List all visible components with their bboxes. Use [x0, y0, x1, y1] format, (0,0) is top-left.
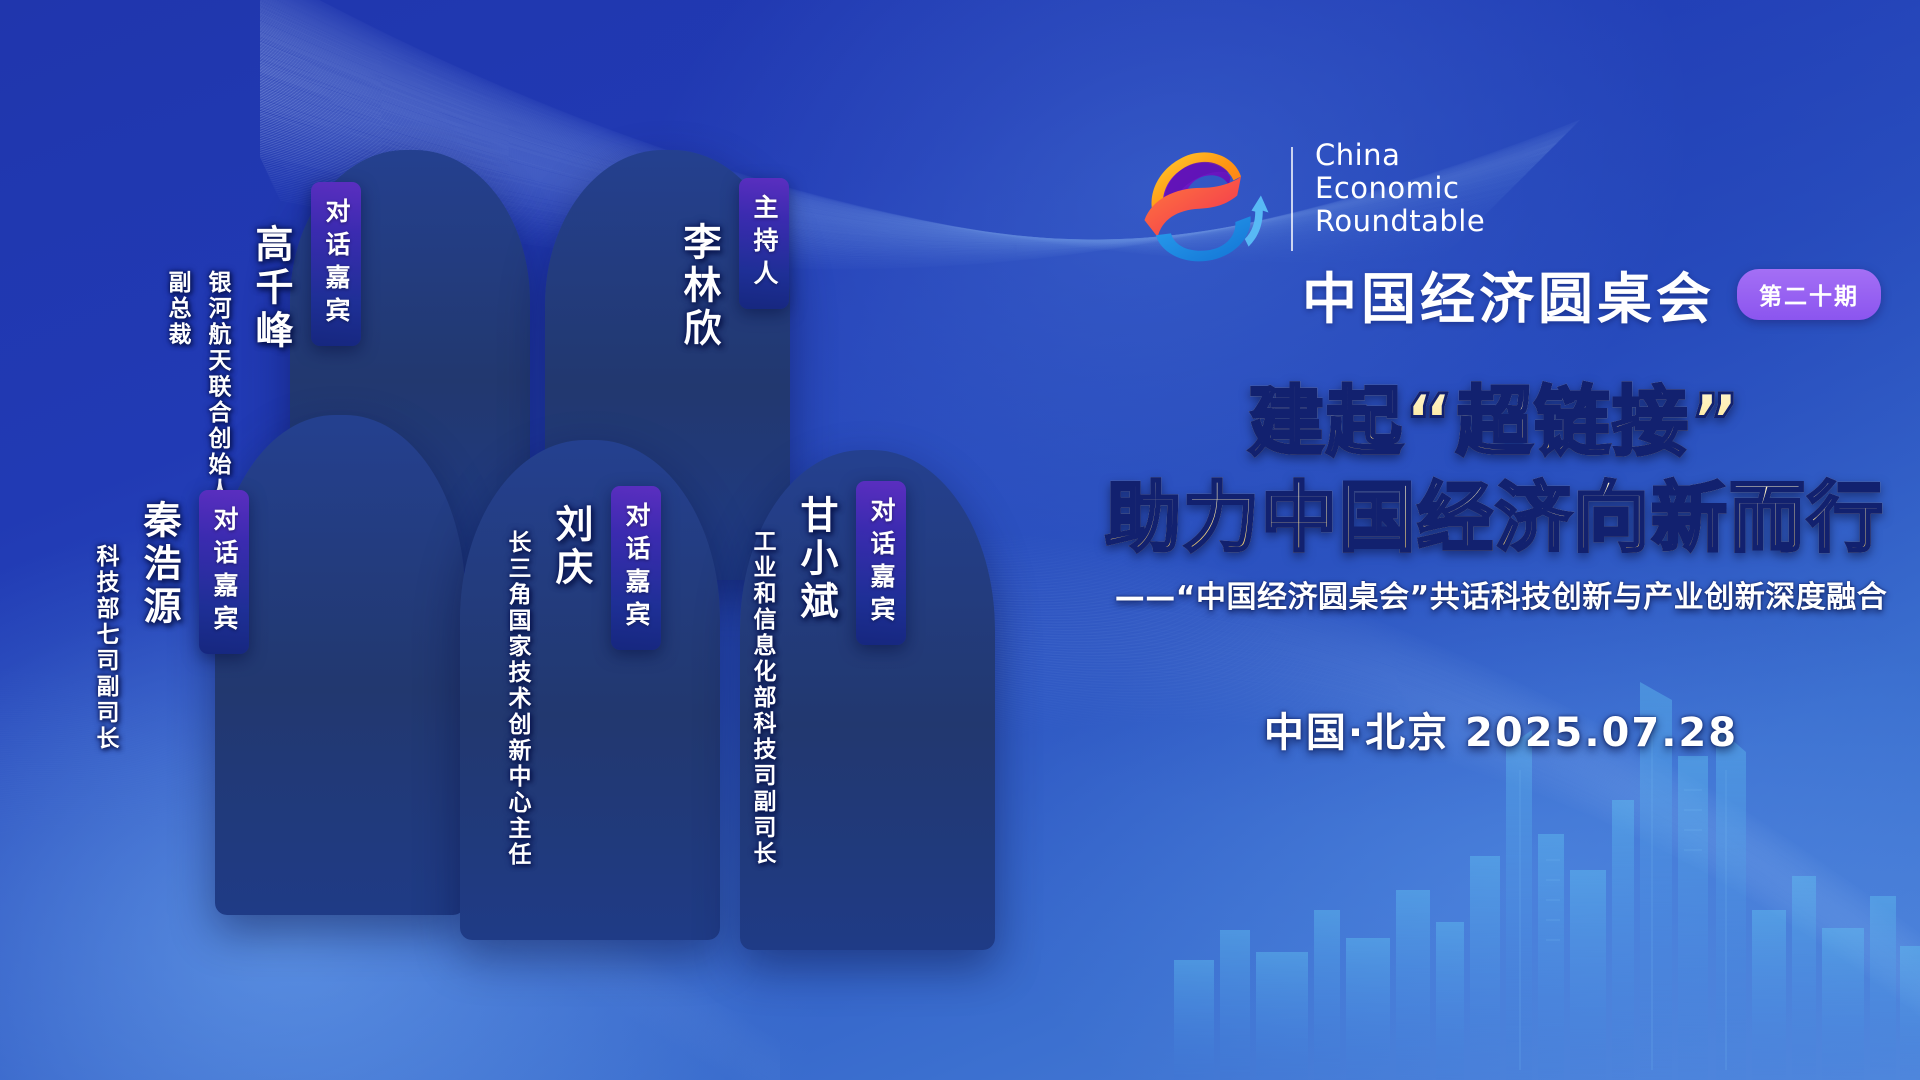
label-qin-haoyuan: 科技部七司副司长 秦浩源 对话嘉宾 [88, 500, 249, 752]
logo-en-line-3: Roundtable [1315, 205, 1485, 238]
brand-cn-row: 中国经济圆桌会 第二十期 [1302, 254, 1881, 334]
role-badge: 对话嘉宾 [311, 182, 361, 346]
person-subtitle: 工业和信息化部科技司副司长 [745, 529, 779, 867]
poster-root: 副总裁 银河航天联合创始人 高千峰 对话嘉宾 李林欣 主持人 科技部七司副司长 … [0, 0, 1920, 1080]
person-subtitle: 银河航天联合创始人 [200, 270, 234, 504]
label-li-linxin: 李林欣 主持人 [672, 198, 789, 351]
person-name: 秦浩源 [132, 500, 187, 629]
china-economic-roundtable-e-logo-icon [1133, 133, 1279, 275]
label-gao-qianfeng: 副总裁 银河航天联合创始人 高千峰 对话嘉宾 [160, 224, 361, 504]
logo-divider [1291, 147, 1293, 251]
person-name: 刘庆 [544, 504, 599, 590]
person-subtitle: 科技部七司副司长 [88, 544, 122, 752]
person-name: 李林欣 [672, 222, 727, 351]
role-badge: 对话嘉宾 [199, 490, 249, 654]
logo-en-line-1: China [1315, 139, 1485, 172]
role-badge: 对话嘉宾 [611, 486, 661, 650]
issue-number-badge: 第二十期 [1737, 269, 1881, 320]
role-badge: 主持人 [739, 178, 789, 309]
person-name: 高千峰 [244, 224, 299, 353]
logo-en-line-2: Economic [1315, 172, 1485, 205]
page-title: 建起“超链接” 助力中国经济向新而行 [1095, 378, 1895, 562]
glow-bottom-right [980, 540, 1920, 1080]
event-location-date: 中国·北京 2025.07.28 [1095, 700, 1907, 758]
headline-line-2: 助力中国经济向新而行 [1095, 474, 1895, 562]
label-gan-xiaobin: 工业和信息化部科技司副司长 甘小斌 对话嘉宾 [745, 495, 906, 867]
person-subtitle: 长三角国家技术创新中心主任 [500, 530, 534, 868]
page-subtitle: ——“中国经济圆桌会”共话科技创新与产业创新深度融合 [1095, 572, 1907, 616]
headline-line-1: 建起“超链接” [1095, 378, 1895, 466]
role-badge: 对话嘉宾 [856, 481, 906, 645]
label-liu-qing: 长三角国家技术创新中心主任 刘庆 对话嘉宾 [500, 504, 661, 868]
logo-english-name: China Economic Roundtable [1315, 139, 1485, 238]
person-name: 甘小斌 [789, 495, 844, 624]
person-subtitle-line2: 副总裁 [160, 270, 194, 348]
brand-cn-title: 中国经济圆桌会 [1302, 254, 1715, 334]
